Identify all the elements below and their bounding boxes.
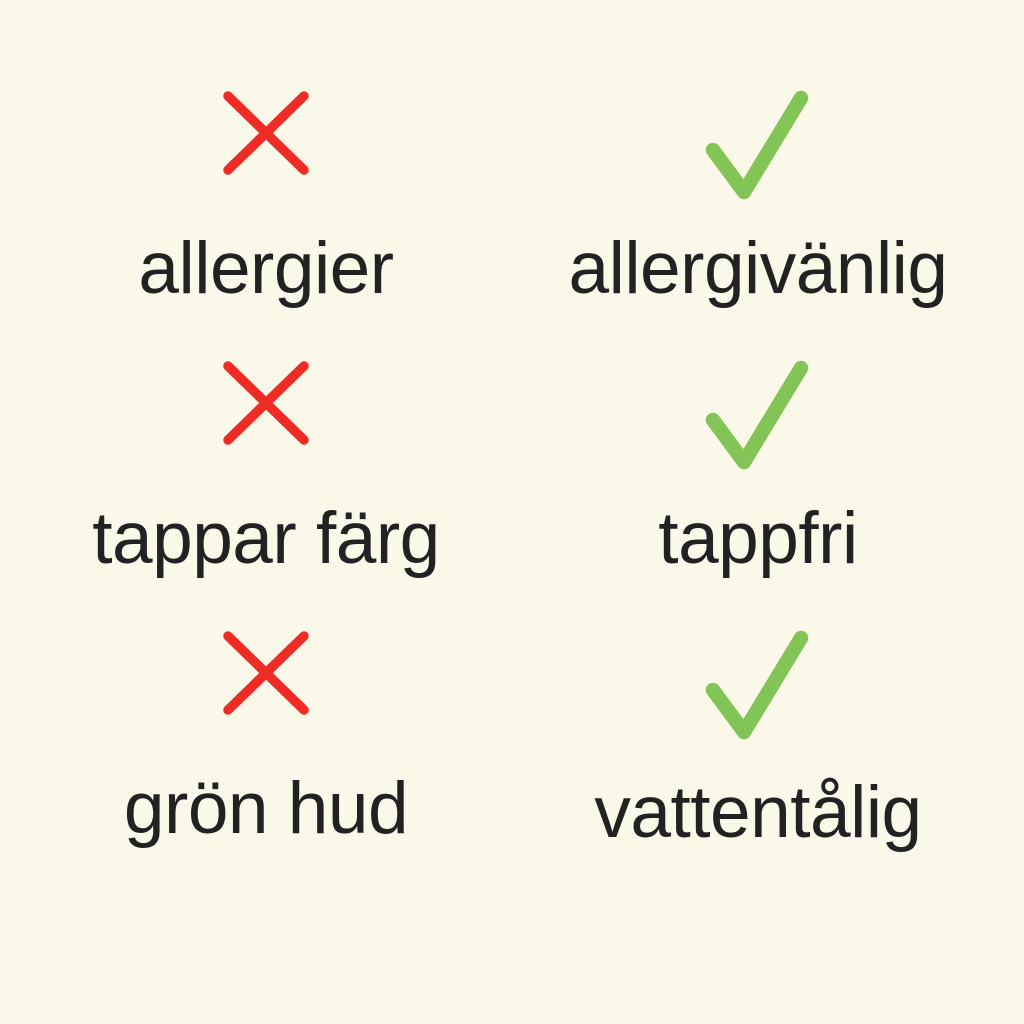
comparison-grid: allergier allergivänlig tappar färg — [0, 88, 1024, 898]
check-icon — [702, 628, 814, 746]
comparison-label: grön hud — [124, 772, 408, 845]
comparison-item-positive: allergivänlig — [512, 88, 1024, 305]
comparison-label: allergivänlig — [569, 232, 948, 305]
comparison-label: tappar färg — [92, 502, 440, 575]
cross-icon — [220, 628, 312, 736]
comparison-item-negative: grön hud — [0, 628, 512, 845]
check-icon — [702, 358, 814, 476]
comparison-graphic: allergier allergivänlig tappar färg — [0, 0, 1024, 1024]
comparison-item-negative: tappar färg — [0, 358, 512, 575]
comparison-label: allergier — [138, 232, 393, 305]
comparison-item-negative: allergier — [0, 88, 512, 305]
comparison-label: tappfri — [658, 502, 857, 575]
check-icon — [702, 88, 814, 206]
cross-icon — [220, 88, 312, 196]
comparison-label: vattentålig — [594, 776, 921, 849]
cross-icon — [220, 358, 312, 466]
comparison-item-positive: vattentålig — [512, 628, 1024, 849]
comparison-item-positive: tappfri — [512, 358, 1024, 575]
